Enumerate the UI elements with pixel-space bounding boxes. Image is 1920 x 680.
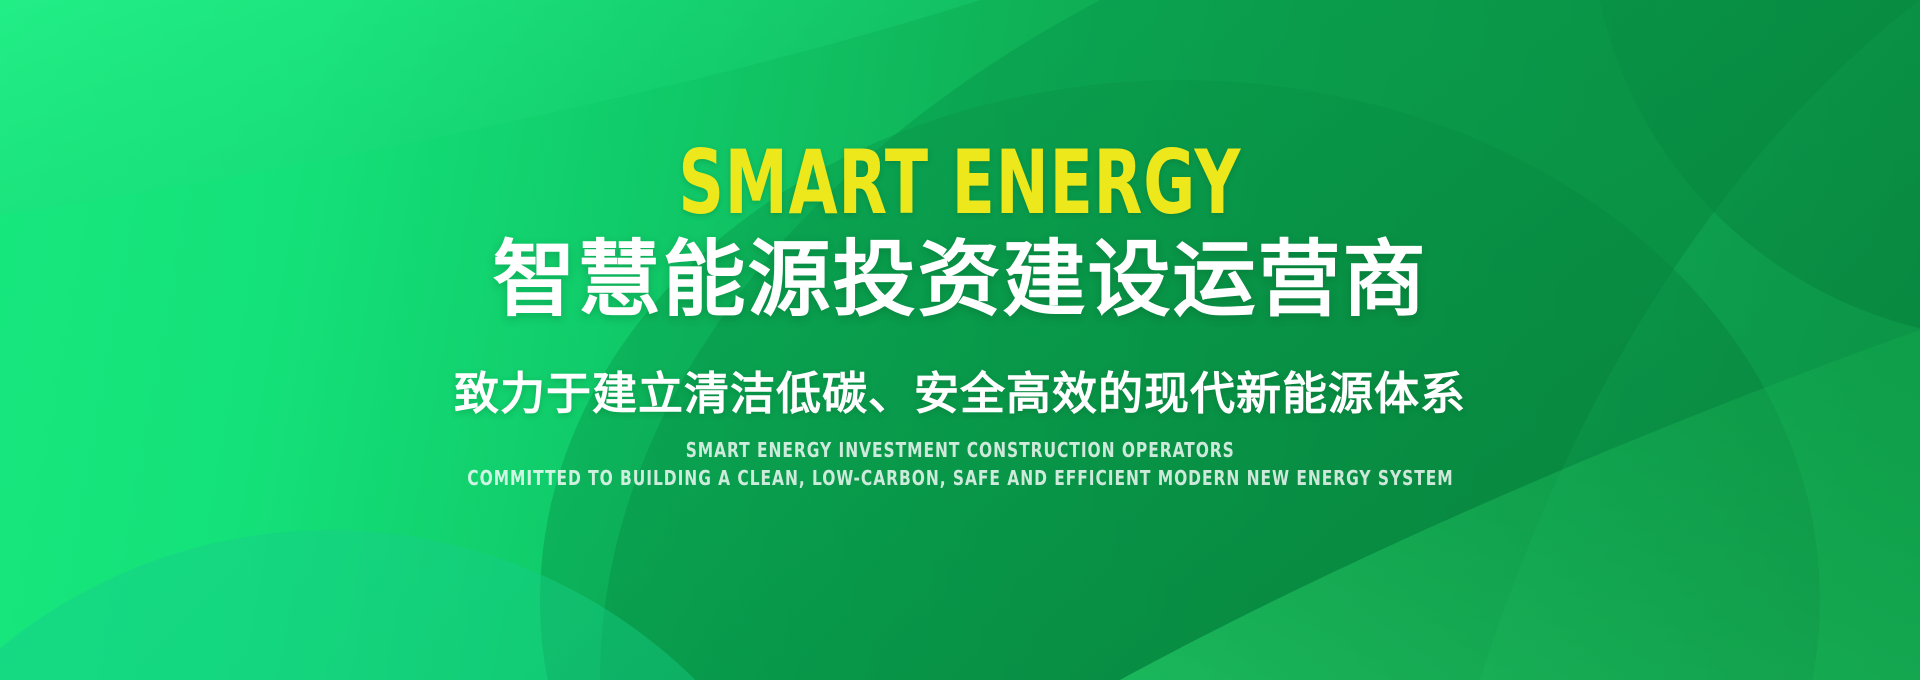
- banner-title-chinese: 智慧能源投资建设运营商: [493, 238, 1428, 321]
- banner-subtitle-english-line-2: COMMITTED TO BUILDING A CLEAN, LOW-CARBO…: [467, 468, 1453, 489]
- banner-content: SMART ENERGY 智慧能源投资建设运营商 致力于建立清洁低碳、安全高效的…: [0, 0, 1920, 680]
- banner-subtitle-chinese: 致力于建立清洁低碳、安全高效的现代新能源体系: [454, 371, 1466, 416]
- banner-subtitle-english-group: SMART ENERGY INVESTMENT CONSTRUCTION OPE…: [387, 440, 1534, 489]
- smart-energy-hero-banner: SMART ENERGY 智慧能源投资建设运营商 致力于建立清洁低碳、安全高效的…: [0, 0, 1920, 680]
- banner-subtitle-english-line-1: SMART ENERGY INVESTMENT CONSTRUCTION OPE…: [685, 440, 1234, 461]
- banner-title-english: SMART ENERGY: [679, 143, 1242, 224]
